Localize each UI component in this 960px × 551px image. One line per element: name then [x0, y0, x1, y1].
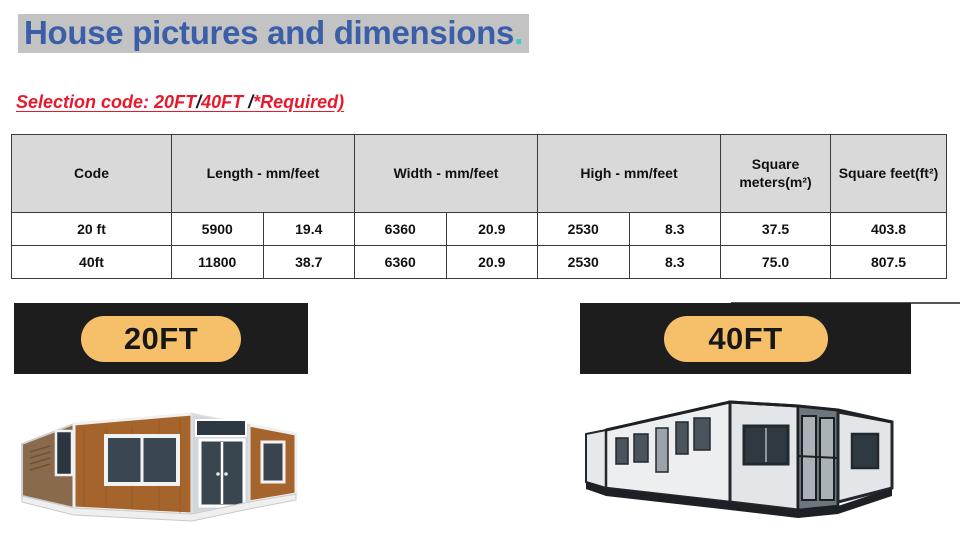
- title-period: .: [514, 14, 523, 51]
- page-title: House pictures and dimensions.: [18, 14, 529, 59]
- cell-length-mm: 5900: [172, 213, 264, 246]
- cell-width-mm: 6360: [355, 246, 447, 279]
- column-header-width: Width - mm/feet: [355, 135, 538, 213]
- badge-20ft: 20FT: [81, 316, 241, 362]
- cell-width-feet: 20.9: [446, 246, 538, 279]
- cell-width-feet: 20.9: [446, 213, 538, 246]
- house-image-20ft: 20FT expandable container house - wood b…: [14, 390, 314, 540]
- selection-code-required-note: *Required): [253, 92, 344, 112]
- selection-code-label: Selection code:: [16, 92, 154, 112]
- title-text: House pictures and dimensions: [24, 14, 514, 51]
- cell-length-feet: 19.4: [263, 213, 355, 246]
- selection-code-option-40ft: 40FT: [201, 92, 248, 112]
- house-image-40ft: 40FT expandable container house - white …: [580, 390, 920, 540]
- container-house-20ft-illustration: [14, 390, 314, 540]
- cell-high-feet: 8.3: [629, 246, 721, 279]
- cell-high-feet: 8.3: [629, 213, 721, 246]
- cell-high-mm: 2530: [538, 213, 630, 246]
- selection-code-line: Selection code: 20FT/40FT /*Required): [16, 92, 344, 113]
- cell-length-mm: 11800: [172, 246, 264, 279]
- cell-width-mm: 6360: [355, 213, 447, 246]
- badge-40ft: 40FT: [664, 316, 828, 362]
- banner-20ft: 20FT: [14, 303, 308, 374]
- column-header-square-feet: Square feet(ft²): [831, 135, 947, 213]
- column-header-length: Length - mm/feet: [172, 135, 355, 213]
- cell-square-meters: 75.0: [721, 246, 831, 279]
- cell-high-mm: 2530: [538, 246, 630, 279]
- table-body: 20 ft 5900 19.4 6360 20.9 2530 8.3 37.5 …: [12, 213, 947, 279]
- selection-code-option-20ft: 20FT: [154, 92, 196, 112]
- cell-square-feet: 403.8: [831, 213, 947, 246]
- figure-20ft: 20FT 20FT expandable container house - w…: [14, 303, 314, 540]
- title-highlight: House pictures and dimensions.: [18, 14, 529, 53]
- cell-code: 20 ft: [12, 213, 172, 246]
- cell-length-feet: 38.7: [263, 246, 355, 279]
- table-row: 20 ft 5900 19.4 6360 20.9 2530 8.3 37.5 …: [12, 213, 947, 246]
- dimensions-table: Code Length - mm/feet Width - mm/feet Hi…: [11, 134, 947, 279]
- column-header-code: Code: [12, 135, 172, 213]
- table-header-row: Code Length - mm/feet Width - mm/feet Hi…: [12, 135, 947, 213]
- figure-40ft: 40FT 40FT expandable container house - w…: [580, 303, 920, 540]
- container-house-40ft-illustration: [580, 390, 920, 540]
- cell-square-feet: 807.5: [831, 246, 947, 279]
- cell-code: 40ft: [12, 246, 172, 279]
- cell-square-meters: 37.5: [721, 213, 831, 246]
- table-row: 40ft 11800 38.7 6360 20.9 2530 8.3 75.0 …: [12, 246, 947, 279]
- table-header: Code Length - mm/feet Width - mm/feet Hi…: [12, 135, 947, 213]
- column-header-square-meters: Square meters(m²): [721, 135, 831, 213]
- column-header-high: High - mm/feet: [538, 135, 721, 213]
- dimensions-table-wrapper: Code Length - mm/feet Width - mm/feet Hi…: [11, 134, 947, 279]
- banner-40ft: 40FT: [580, 303, 911, 374]
